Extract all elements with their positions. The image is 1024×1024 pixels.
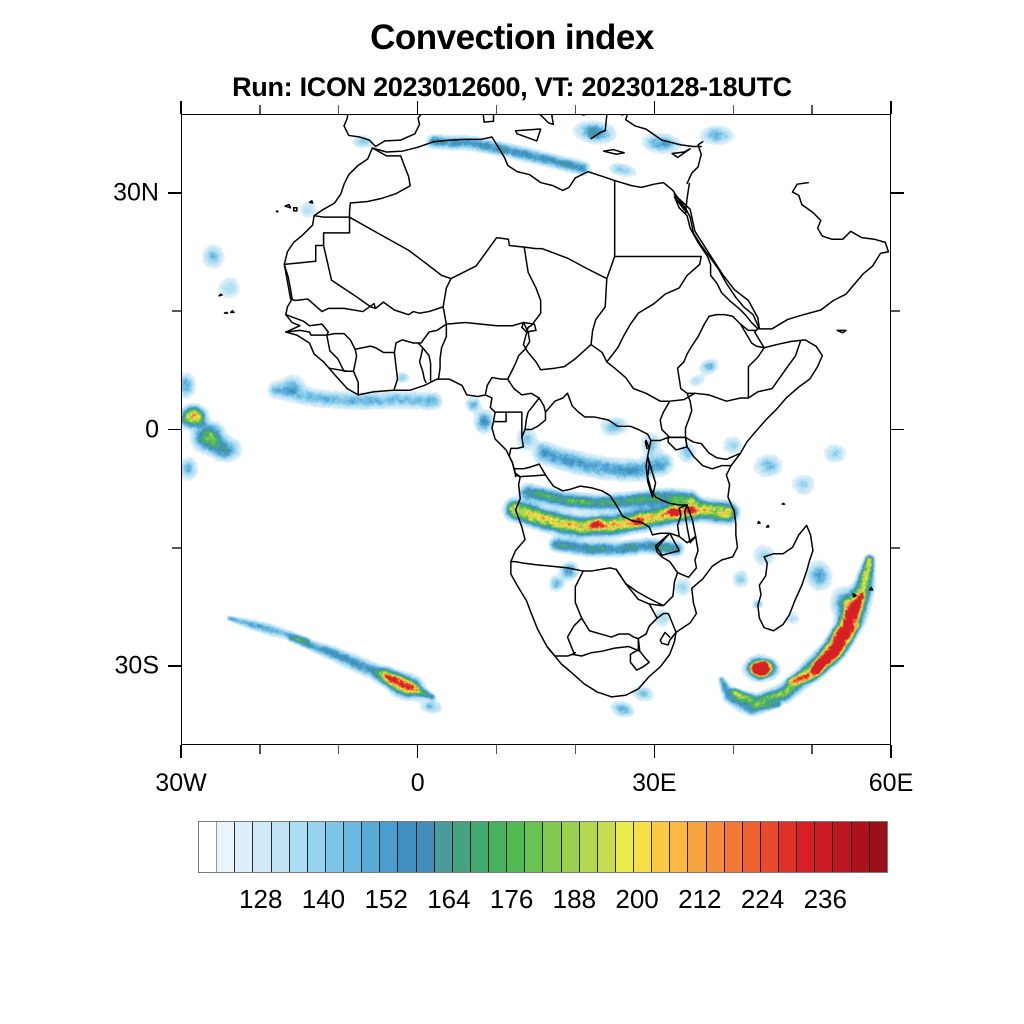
x-tick-top bbox=[417, 101, 419, 114]
x-axis-label: 30E bbox=[632, 769, 676, 798]
x-tick-top bbox=[654, 101, 656, 114]
colorbar-tick-label: 188 bbox=[553, 884, 596, 915]
colorbar-segment bbox=[797, 822, 815, 872]
colorbar-tick-labels: 128140152164176188200212224236 bbox=[0, 884, 1024, 918]
colorbar-segment bbox=[489, 822, 507, 872]
page-title: Convection index bbox=[0, 18, 1024, 58]
x-tick-top bbox=[338, 105, 339, 114]
colorbar-segment bbox=[725, 822, 743, 872]
y-tick bbox=[168, 665, 181, 667]
colorbar-segment bbox=[362, 822, 380, 872]
colorbar-segment bbox=[417, 822, 435, 872]
colorbar-segment bbox=[471, 822, 489, 872]
y-tick-right bbox=[891, 429, 904, 431]
colorbar-segment bbox=[707, 822, 725, 872]
colorbar-segment bbox=[870, 822, 887, 872]
x-tick bbox=[575, 745, 576, 754]
colorbar-tick-label: 200 bbox=[615, 884, 658, 915]
x-tick-top bbox=[733, 105, 734, 114]
colorbar-segment bbox=[199, 822, 217, 872]
y-tick bbox=[172, 547, 181, 548]
x-tick bbox=[259, 745, 260, 754]
colorbar-segment bbox=[779, 822, 797, 872]
page-subtitle: Run: ICON 2023012600, VT: 20230128-18UTC bbox=[0, 72, 1024, 103]
y-tick-right bbox=[891, 192, 904, 194]
x-axis-label: 60E bbox=[869, 769, 913, 798]
x-tick bbox=[417, 745, 419, 758]
colorbar-segment bbox=[344, 822, 362, 872]
weather-map-figure: Convection index Run: ICON 2023012600, V… bbox=[0, 0, 1024, 1024]
x-axis-label: 0 bbox=[411, 769, 425, 798]
colorbar-segment bbox=[543, 822, 561, 872]
colorbar-segment bbox=[598, 822, 616, 872]
colorbar-segment bbox=[253, 822, 271, 872]
colorbar-segment bbox=[833, 822, 851, 872]
colorbar-segment bbox=[525, 822, 543, 872]
colorbar-segment bbox=[815, 822, 833, 872]
colorbar-segment bbox=[272, 822, 290, 872]
y-tick-right bbox=[891, 310, 900, 311]
map-plot-area[interactable] bbox=[181, 114, 891, 745]
colorbar-segment bbox=[453, 822, 471, 872]
colorbar-segment bbox=[580, 822, 598, 872]
x-tick-top bbox=[890, 101, 892, 114]
colorbar-segment bbox=[616, 822, 634, 872]
colorbar-segment bbox=[507, 822, 525, 872]
colorbar-segment bbox=[743, 822, 761, 872]
x-tick-top bbox=[180, 101, 182, 114]
colorbar-segment bbox=[652, 822, 670, 872]
y-tick bbox=[172, 310, 181, 311]
colorbar-segment bbox=[217, 822, 235, 872]
y-tick-right bbox=[891, 665, 904, 667]
colorbar-tick-label: 152 bbox=[364, 884, 407, 915]
colorbar-tick-label: 236 bbox=[804, 884, 847, 915]
y-axis-label: 0 bbox=[0, 415, 159, 444]
convection-field-layer bbox=[182, 115, 890, 744]
x-tick bbox=[338, 745, 339, 754]
colorbar-segment bbox=[852, 822, 870, 872]
x-tick bbox=[890, 745, 892, 758]
y-tick bbox=[168, 429, 181, 431]
colorbar-tick-label: 140 bbox=[302, 884, 345, 915]
y-axis-label: 30N bbox=[0, 178, 159, 207]
y-tick-right bbox=[891, 547, 900, 548]
x-tick-top bbox=[811, 105, 812, 114]
colorbar[interactable] bbox=[198, 821, 888, 873]
colorbar-segment bbox=[688, 822, 706, 872]
colorbar-segment bbox=[380, 822, 398, 872]
x-tick-top bbox=[496, 105, 497, 114]
colorbar-segment bbox=[326, 822, 344, 872]
colorbar-segment bbox=[235, 822, 253, 872]
colorbar-segment bbox=[398, 822, 416, 872]
y-axis-label: 30S bbox=[0, 652, 159, 681]
x-tick bbox=[496, 745, 497, 754]
x-tick bbox=[733, 745, 734, 754]
colorbar-segment bbox=[290, 822, 308, 872]
colorbar-segment bbox=[761, 822, 779, 872]
x-axis-label: 30W bbox=[155, 769, 206, 798]
colorbar-segment bbox=[562, 822, 580, 872]
colorbar-tick-label: 212 bbox=[678, 884, 721, 915]
colorbar-segment bbox=[308, 822, 326, 872]
colorbar-tick-label: 164 bbox=[427, 884, 470, 915]
x-tick bbox=[811, 745, 812, 754]
colorbar-segment bbox=[634, 822, 652, 872]
colorbar-segment bbox=[670, 822, 688, 872]
x-tick bbox=[180, 745, 182, 758]
colorbar-tick-label: 224 bbox=[741, 884, 784, 915]
coastline-and-borders-overlay bbox=[182, 115, 890, 744]
y-tick bbox=[168, 192, 181, 194]
x-tick-top bbox=[575, 105, 576, 114]
x-tick bbox=[654, 745, 656, 758]
colorbar-segment bbox=[435, 822, 453, 872]
x-tick-top bbox=[259, 105, 260, 114]
colorbar-tick-label: 128 bbox=[239, 884, 282, 915]
colorbar-tick-label: 176 bbox=[490, 884, 533, 915]
